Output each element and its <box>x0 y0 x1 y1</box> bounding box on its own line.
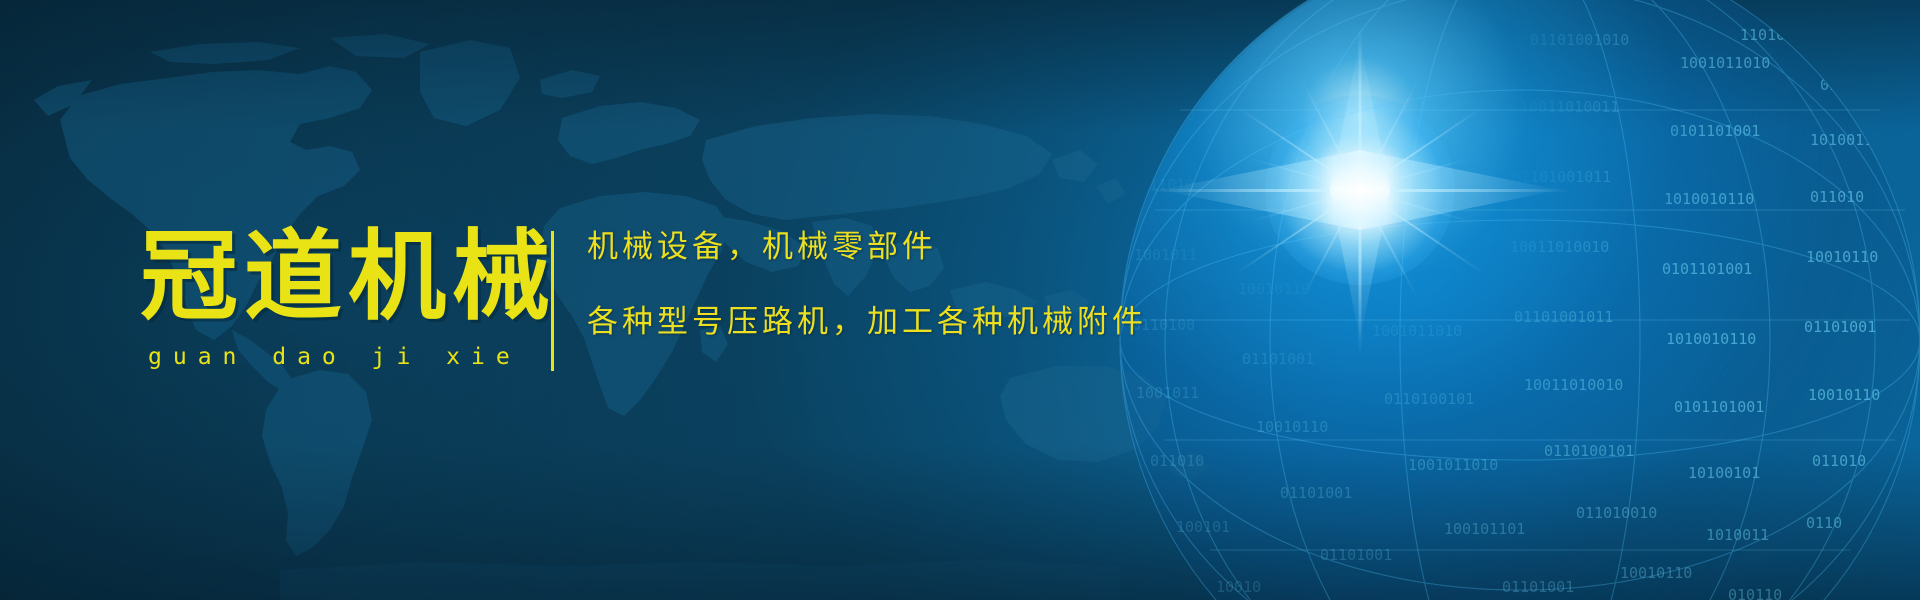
company-name-pinyin: guan dao ji xie <box>148 344 556 370</box>
banner-content: 冠道机械 guan dao ji xie 机械设备，机械零部件 各种型号压路机，… <box>0 0 1920 600</box>
promo-banner: 010110 1001 0110101 10011010 0101101001 … <box>0 0 1920 600</box>
logo-block: 冠道机械 guan dao ji xie <box>140 228 556 370</box>
vertical-divider <box>551 231 554 371</box>
tagline-line-2: 各种型号压路机，加工各种机械附件 <box>587 307 1147 338</box>
tagline-block: 机械设备，机械零部件 各种型号压路机，加工各种机械附件 <box>587 232 1147 338</box>
company-name-cn: 冠道机械 <box>140 228 556 326</box>
tagline-line-1: 机械设备，机械零部件 <box>587 232 1147 263</box>
